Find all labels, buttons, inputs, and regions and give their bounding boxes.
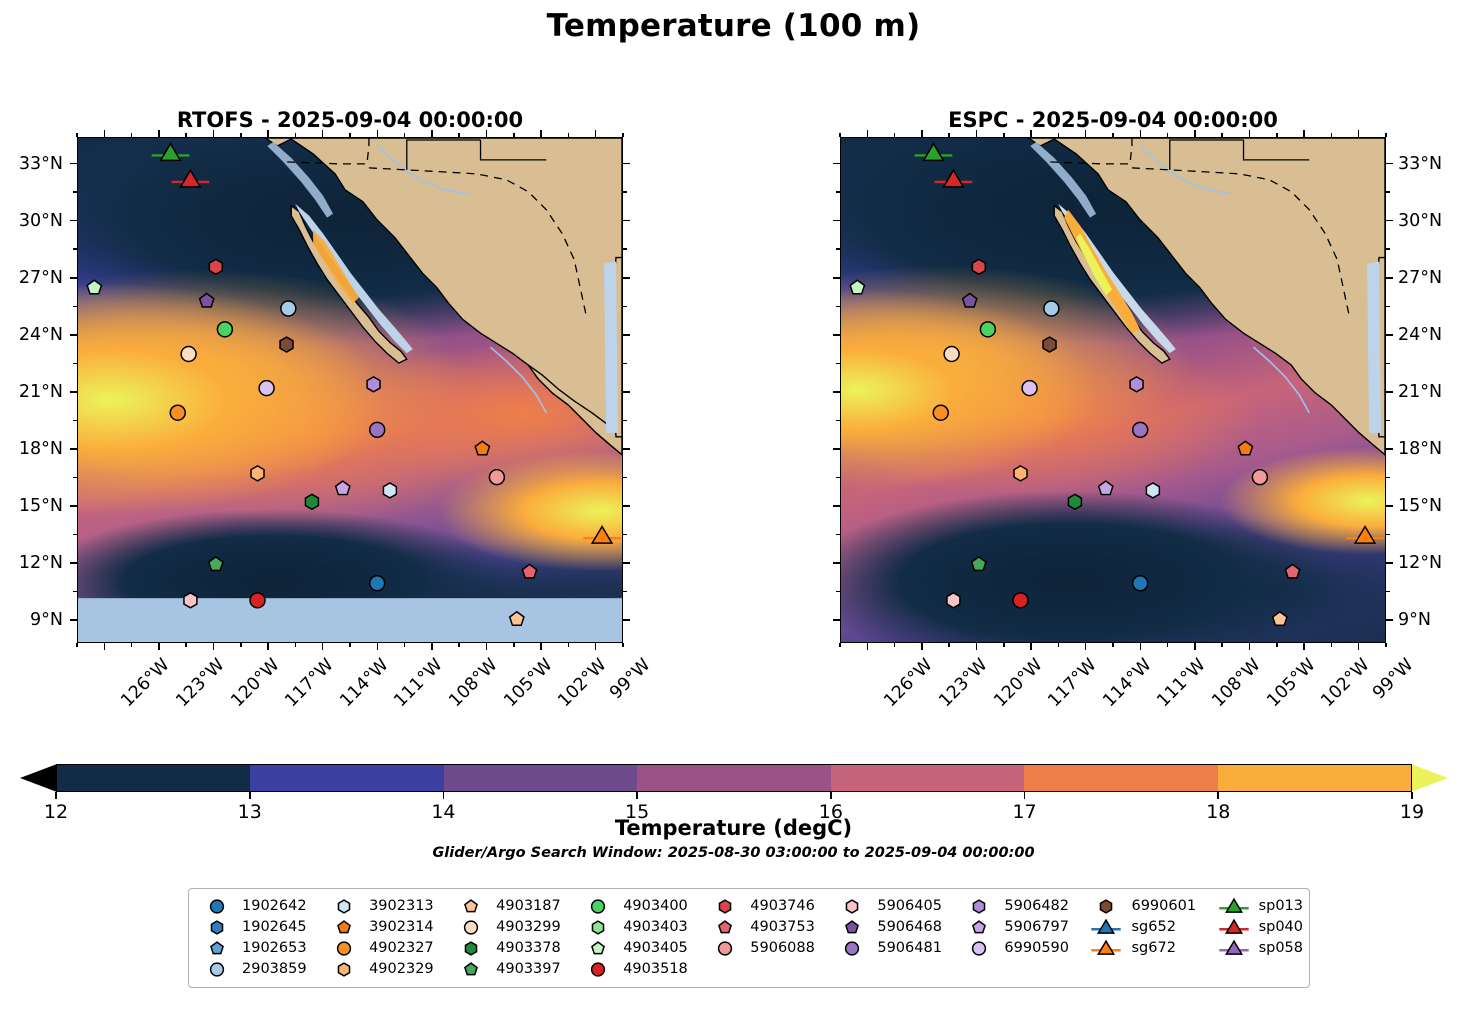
- xtick-label-espc-6: 108°W: [1208, 655, 1264, 711]
- platform-marker-4903746[interactable]: [209, 259, 222, 274]
- legend-item-5906088[interactable]: 5906088: [703, 938, 830, 959]
- ytick-right-rtofs-4: [623, 391, 630, 393]
- legend-label-3902314: 3902314: [369, 918, 434, 937]
- legend-glyph-sg672[interactable]: [1092, 941, 1121, 954]
- xtick-minor: [131, 133, 133, 137]
- legend-label-4903746: 4903746: [750, 897, 815, 916]
- ytick-rtofs-0: [70, 163, 77, 165]
- legend-glyph-5906482[interactable]: [974, 900, 985, 913]
- legend-marker-1902653: [201, 939, 233, 958]
- platform-marker-sp040[interactable]: [172, 170, 210, 187]
- xtick-rtofs-6: [431, 643, 433, 650]
- legend-label-5906405: 5906405: [877, 897, 942, 916]
- ytick-minor: [623, 191, 627, 193]
- xtick-minor: [240, 643, 242, 647]
- legend-glyph-5906468[interactable]: [846, 921, 858, 933]
- ytick-minor: [836, 248, 840, 250]
- xtick-label-espc-4: 114°W: [1099, 655, 1155, 711]
- platform-marker-4903400[interactable]: [217, 322, 232, 337]
- ytick-minor: [73, 534, 77, 536]
- platform-marker-2903859[interactable]: [1044, 301, 1059, 316]
- legend-label-1902645: 1902645: [242, 918, 307, 937]
- xtick-top-rtofs-8: [540, 130, 542, 137]
- legend-marker-4903187: [455, 897, 487, 916]
- xtick-top-espc-0: [867, 130, 869, 137]
- legend-item-4903518[interactable]: 4903518: [576, 959, 703, 980]
- legend-label-4903397: 4903397: [496, 960, 561, 979]
- map-panel-espc: ESPC - 2025-09-04 00:00:00: [840, 137, 1386, 643]
- legend-label-sp013: sp013: [1259, 897, 1303, 916]
- platform-marker-5906481[interactable]: [1133, 422, 1148, 437]
- legend-glyph-4903405[interactable]: [592, 942, 604, 954]
- legend-label-1902642: 1902642: [242, 897, 307, 916]
- xtick-minor: [894, 643, 896, 647]
- platform-marker-4903405[interactable]: [850, 280, 864, 294]
- platform-marker-4903746[interactable]: [972, 259, 985, 274]
- xtick-minor: [1221, 133, 1223, 137]
- legend-glyph-1902642[interactable]: [211, 900, 224, 913]
- ytick-right-rtofs-3: [623, 334, 630, 336]
- xtick-minor: [1003, 643, 1005, 647]
- xtick-label-espc-3: 117°W: [1045, 655, 1101, 711]
- xtick-minor: [568, 643, 570, 647]
- legend-marker-5906482: [963, 897, 995, 916]
- xtick-label-espc-1: 123°W: [935, 655, 991, 711]
- platform-marker-4903378[interactable]: [1068, 494, 1081, 509]
- xtick-espc-2: [976, 643, 978, 650]
- xtick-minor: [622, 643, 624, 647]
- xtick-minor: [948, 133, 950, 137]
- legend-item-5906468[interactable]: 5906468: [830, 917, 957, 938]
- xtick-label-rtofs-3: 117°W: [282, 655, 338, 711]
- xtick-top-espc-9: [1358, 130, 1360, 137]
- legend-marker-6990601: [1090, 897, 1122, 916]
- legend-marker-6990590: [963, 939, 995, 958]
- xtick-minor: [948, 643, 950, 647]
- legend-glyph-2903859[interactable]: [211, 963, 224, 976]
- platform-marker-5906405[interactable]: [947, 593, 960, 608]
- legend-glyph-4903518[interactable]: [592, 963, 605, 976]
- legend-marker-4903397: [455, 960, 487, 979]
- platform-marker-4903518[interactable]: [1013, 593, 1028, 608]
- legend-marker-4902327: [328, 939, 360, 958]
- platform-marker-4903397[interactable]: [209, 557, 223, 571]
- platform-marker-3902313[interactable]: [1146, 483, 1159, 498]
- platform-marker-5906482[interactable]: [367, 377, 380, 392]
- legend-item-3902314[interactable]: 3902314: [322, 917, 449, 938]
- legend-label-sp058: sp058: [1259, 939, 1303, 958]
- xtick-minor: [1221, 643, 1223, 647]
- xtick-label-rtofs-9: 99°W: [606, 655, 654, 703]
- ytick-espc-5: [833, 448, 840, 450]
- colorbar-tick-6: [1217, 792, 1219, 799]
- platform-marker-5906088[interactable]: [489, 470, 504, 485]
- platform-marker-sp013[interactable]: [915, 144, 953, 161]
- ytick-label-left-1: 30°N: [0, 211, 63, 231]
- platform-marker-4903518[interactable]: [250, 593, 265, 608]
- ytick-label-right-3: 24°N: [1398, 325, 1467, 345]
- legend-marker-4903405: [582, 939, 614, 958]
- ytick-label-right-1: 30°N: [1398, 211, 1467, 231]
- xtick-minor: [1276, 133, 1278, 137]
- xtick-minor: [1276, 643, 1278, 647]
- legend-marker-sg672: [1090, 939, 1122, 958]
- legend-glyph-4903397[interactable]: [465, 963, 477, 975]
- ytick-minor: [836, 306, 840, 308]
- colorbar-extend-over: [1411, 764, 1448, 792]
- legend-glyph-6990601[interactable]: [1101, 900, 1112, 913]
- platform-marker-4903378[interactable]: [305, 494, 318, 509]
- platform-marker-4903187[interactable]: [510, 612, 524, 626]
- xtick-minor: [1058, 133, 1060, 137]
- search-window-caption: Glider/Argo Search Window: 2025-08-30 03…: [0, 845, 1467, 861]
- xtick-minor: [185, 643, 187, 647]
- xtick-minor: [349, 133, 351, 137]
- ytick-right-rtofs-0: [623, 163, 630, 165]
- xtick-minor: [1003, 133, 1005, 137]
- xtick-label-espc-7: 105°W: [1263, 655, 1319, 711]
- legend-grid: 1902642190264519026532903859390231339023…: [195, 896, 1303, 980]
- xtick-minor: [568, 133, 570, 137]
- legend-marker-sp040: [1218, 918, 1250, 937]
- xtick-label-espc-0: 126°W: [881, 655, 937, 711]
- legend-glyph-4903378[interactable]: [466, 942, 477, 955]
- xtick-minor: [404, 643, 406, 647]
- ytick-right-espc-3: [1386, 334, 1393, 336]
- platform-marker-2903859[interactable]: [281, 301, 296, 316]
- legend-glyph-4903753[interactable]: [719, 921, 731, 933]
- platform-marker-4902329[interactable]: [251, 466, 264, 481]
- xtick-top-rtofs-5: [377, 130, 379, 137]
- legend-glyph-4903299[interactable]: [465, 921, 478, 934]
- platform-markers-rtofs[interactable]: [78, 138, 622, 642]
- platform-legend[interactable]: 1902642190264519026532903859390231339023…: [188, 888, 1310, 988]
- legend-item-sp058[interactable]: sp058: [1212, 938, 1303, 959]
- xtick-top-rtofs-7: [486, 130, 488, 137]
- legend-marker-5906797: [963, 918, 995, 937]
- xtick-top-espc-2: [976, 130, 978, 137]
- xtick-top-espc-4: [1085, 130, 1087, 137]
- platform-marker-4902327[interactable]: [933, 405, 948, 420]
- platform-marker-4903753[interactable]: [522, 564, 536, 578]
- legend-item-2903859[interactable]: 2903859: [195, 959, 322, 980]
- xtick-top-rtofs-1: [158, 130, 160, 137]
- legend-item-4903753[interactable]: 4903753: [703, 917, 830, 938]
- xtick-rtofs-0: [104, 643, 106, 650]
- ytick-minor: [836, 534, 840, 536]
- legend-glyph-4903187[interactable]: [465, 900, 477, 912]
- platform-marker-6990590[interactable]: [259, 381, 274, 396]
- ytick-minor: [73, 248, 77, 250]
- ytick-label-right-5: 18°N: [1398, 439, 1467, 459]
- legend-glyph-1902653[interactable]: [211, 942, 223, 954]
- xtick-minor: [76, 643, 78, 647]
- ytick-minor: [836, 363, 840, 365]
- legend-label-5906088: 5906088: [750, 939, 815, 958]
- xtick-minor: [894, 133, 896, 137]
- ytick-minor: [836, 477, 840, 479]
- ytick-right-rtofs-5: [623, 448, 630, 450]
- map-panel-rtofs: RTOFS - 2025-09-04 00:00:00: [77, 137, 623, 643]
- platform-marker-1902642[interactable]: [370, 576, 385, 591]
- legend-label-4903405: 4903405: [623, 939, 688, 958]
- ytick-espc-0: [833, 163, 840, 165]
- legend-label-4903403: 4903403: [623, 918, 688, 937]
- legend-label-2903859: 2903859: [242, 960, 307, 979]
- legend-item-5906405[interactable]: 5906405: [830, 896, 957, 917]
- platform-marker-5906481[interactable]: [370, 422, 385, 437]
- ytick-right-rtofs-8: [623, 619, 630, 621]
- platform-markers-espc[interactable]: [841, 138, 1385, 642]
- legend-item-6990601[interactable]: 6990601: [1084, 896, 1211, 917]
- xtick-minor: [458, 643, 460, 647]
- legend-label-6990590: 6990590: [1004, 939, 1069, 958]
- xtick-label-espc-2: 120°W: [990, 655, 1046, 711]
- ytick-right-rtofs-2: [623, 277, 630, 279]
- legend-item-4903299[interactable]: 4903299: [449, 917, 576, 938]
- legend-item-sg672[interactable]: sg672: [1084, 938, 1211, 959]
- legend-glyph-sp040[interactable]: [1219, 920, 1248, 933]
- colorbar-tick-3: [636, 792, 638, 799]
- xtick-label-rtofs-8: 102°W: [555, 655, 611, 711]
- xtick-minor: [295, 133, 297, 137]
- xtick-label-rtofs-2: 120°W: [227, 655, 283, 711]
- legend-glyph-5906405[interactable]: [847, 900, 858, 913]
- platform-marker-3902314[interactable]: [1238, 441, 1252, 455]
- ytick-rtofs-1: [70, 220, 77, 222]
- xtick-top-rtofs-9: [595, 130, 597, 137]
- xtick-minor: [1167, 643, 1169, 647]
- xtick-top-espc-3: [1030, 130, 1032, 137]
- legend-label-sp040: sp040: [1259, 918, 1303, 937]
- ytick-right-espc-4: [1386, 391, 1393, 393]
- xtick-label-rtofs-5: 111°W: [391, 655, 447, 711]
- xtick-top-espc-7: [1249, 130, 1251, 137]
- legend-item-4902329[interactable]: 4902329: [322, 959, 449, 980]
- platform-marker-5906482[interactable]: [1130, 377, 1143, 392]
- ytick-rtofs-6: [70, 505, 77, 507]
- xtick-espc-3: [1030, 643, 1032, 650]
- platform-marker-5906797[interactable]: [336, 481, 350, 495]
- platform-marker-6990590[interactable]: [1022, 381, 1037, 396]
- platform-marker-1902642[interactable]: [1133, 576, 1148, 591]
- ytick-label-right-7: 12°N: [1398, 553, 1467, 573]
- ytick-right-espc-8: [1386, 619, 1393, 621]
- xtick-minor: [1331, 643, 1333, 647]
- xtick-minor: [513, 643, 515, 647]
- legend-item-4903405[interactable]: 4903405: [576, 938, 703, 959]
- legend-item-4903378[interactable]: 4903378: [449, 938, 576, 959]
- xtick-rtofs-7: [486, 643, 488, 650]
- platform-marker-4903405[interactable]: [87, 280, 101, 294]
- platform-marker-4903753[interactable]: [1285, 564, 1299, 578]
- legend-label-4903187: 4903187: [496, 897, 561, 916]
- legend-marker-4903753: [709, 918, 741, 937]
- xtick-minor: [1385, 643, 1387, 647]
- ytick-label-left-5: 18°N: [0, 439, 63, 459]
- legend-item-1902653[interactable]: 1902653: [195, 938, 322, 959]
- legend-item-3902313[interactable]: 3902313: [322, 896, 449, 917]
- legend-item-6990590[interactable]: 6990590: [957, 938, 1084, 959]
- legend-glyph-sp058[interactable]: [1219, 941, 1248, 954]
- xtick-espc-8: [1303, 643, 1305, 650]
- platform-marker-4903299[interactable]: [944, 347, 959, 362]
- platform-marker-4902329[interactable]: [1014, 466, 1027, 481]
- xtick-label-rtofs-4: 114°W: [336, 655, 392, 711]
- ytick-minor: [1386, 591, 1390, 593]
- ytick-right-espc-7: [1386, 562, 1393, 564]
- legend-item-4903400[interactable]: 4903400: [576, 896, 703, 917]
- xtick-label-espc-9: 99°W: [1369, 655, 1417, 703]
- legend-item-1902645[interactable]: 1902645: [195, 917, 322, 938]
- xtick-espc-0: [867, 643, 869, 650]
- ytick-minor: [836, 420, 840, 422]
- legend-label-4903518: 4903518: [623, 960, 688, 979]
- legend-glyph-4903746[interactable]: [720, 900, 731, 913]
- colorbar-tick-0: [55, 792, 57, 799]
- ytick-rtofs-5: [70, 448, 77, 450]
- xtick-minor: [839, 133, 841, 137]
- xtick-minor: [240, 133, 242, 137]
- ytick-label-left-6: 15°N: [0, 496, 63, 516]
- ytick-espc-4: [833, 391, 840, 393]
- platform-marker-5906797[interactable]: [1099, 481, 1113, 495]
- legend-item-5906482[interactable]: 5906482: [957, 896, 1084, 917]
- platform-marker-5906405[interactable]: [184, 593, 197, 608]
- legend-glyph-4902327[interactable]: [338, 942, 351, 955]
- legend-marker-5906088: [709, 939, 741, 958]
- legend-label-6990601: 6990601: [1131, 897, 1196, 916]
- figure-title: Temperature (100 m): [0, 8, 1467, 44]
- ytick-label-left-4: 21°N: [0, 382, 63, 402]
- ytick-minor: [73, 591, 77, 593]
- legend-marker-sp013: [1218, 897, 1250, 916]
- legend-item-4903397[interactable]: 4903397: [449, 959, 576, 980]
- xtick-espc-6: [1194, 643, 1196, 650]
- ytick-label-right-0: 33°N: [1398, 154, 1467, 174]
- ytick-minor: [623, 363, 627, 365]
- ytick-minor: [623, 306, 627, 308]
- platform-marker-4903187[interactable]: [1273, 612, 1287, 626]
- ytick-minor: [1386, 306, 1390, 308]
- map-frame-rtofs[interactable]: [77, 137, 623, 643]
- legend-glyph-1902645[interactable]: [211, 921, 222, 934]
- colorbar-segment-1: [250, 765, 443, 791]
- ytick-label-left-8: 9°N: [0, 610, 63, 630]
- xtick-rtofs-8: [540, 643, 542, 650]
- platform-marker-sg672[interactable]: [583, 526, 621, 543]
- colorbar[interactable]: 1213141516171819: [20, 764, 1448, 792]
- legend-glyph-sp013[interactable]: [1219, 899, 1248, 912]
- legend-glyph-5906797[interactable]: [973, 921, 985, 933]
- ytick-minor: [623, 477, 627, 479]
- platform-marker-5906468[interactable]: [963, 293, 977, 307]
- platform-marker-sg672[interactable]: [1346, 526, 1384, 543]
- xtick-espc-9: [1358, 643, 1360, 650]
- legend-item-5906481[interactable]: 5906481: [830, 938, 957, 959]
- ytick-minor: [73, 477, 77, 479]
- legend-glyph-5906481[interactable]: [846, 942, 859, 955]
- legend-label-5906797: 5906797: [1004, 918, 1069, 937]
- colorbar-segment-5: [1024, 765, 1217, 791]
- xtick-rtofs-4: [322, 643, 324, 650]
- legend-marker-4903400: [582, 897, 614, 916]
- platform-marker-sp013[interactable]: [152, 144, 190, 161]
- colorbar-segment-0: [57, 765, 250, 791]
- legend-label-4902329: 4902329: [369, 960, 434, 979]
- ytick-minor: [1386, 477, 1390, 479]
- ytick-espc-8: [833, 619, 840, 621]
- legend-glyph-4903400[interactable]: [592, 900, 605, 913]
- legend-glyph-3902314[interactable]: [338, 921, 350, 933]
- colorbar-segments: [56, 764, 1412, 792]
- legend-glyph-4902329[interactable]: [339, 963, 350, 976]
- panel-title-espc: ESPC - 2025-09-04 00:00:00: [840, 108, 1386, 132]
- xtick-espc-7: [1249, 643, 1251, 650]
- platform-marker-6990601[interactable]: [1043, 337, 1056, 352]
- platform-marker-5906468[interactable]: [200, 293, 214, 307]
- legend-glyph-sg652[interactable]: [1092, 920, 1121, 933]
- legend-item-1902642[interactable]: 1902642: [195, 896, 322, 917]
- platform-marker-sp040[interactable]: [935, 170, 973, 187]
- platform-marker-4903400[interactable]: [980, 322, 995, 337]
- ytick-minor: [623, 534, 627, 536]
- xtick-top-espc-5: [1140, 130, 1142, 137]
- legend-item-sp040[interactable]: sp040: [1212, 917, 1303, 938]
- platform-marker-3902313[interactable]: [383, 483, 396, 498]
- legend-item-sg652[interactable]: sg652: [1084, 917, 1211, 938]
- legend-glyph-5906088[interactable]: [719, 942, 732, 955]
- map-frame-espc[interactable]: [840, 137, 1386, 643]
- ytick-minor: [836, 191, 840, 193]
- colorbar-segment-3: [637, 765, 830, 791]
- legend-marker-sg652: [1090, 918, 1122, 937]
- platform-marker-3902314[interactable]: [475, 441, 489, 455]
- platform-marker-4903299[interactable]: [181, 347, 196, 362]
- legend-marker-5906481: [836, 939, 868, 958]
- legend-glyph-6990590[interactable]: [973, 942, 986, 955]
- ytick-espc-2: [833, 277, 840, 279]
- ytick-minor: [623, 591, 627, 593]
- ytick-minor: [1386, 248, 1390, 250]
- legend-label-3902313: 3902313: [369, 897, 434, 916]
- xtick-label-rtofs-0: 126°W: [118, 655, 174, 711]
- ytick-right-espc-0: [1386, 163, 1393, 165]
- ytick-label-right-6: 15°N: [1398, 496, 1467, 516]
- figure-canvas: Temperature (100 m) RTOFS - 2025-09-04 0…: [0, 0, 1467, 1014]
- xtick-top-espc-1: [921, 130, 923, 137]
- ytick-rtofs-7: [70, 562, 77, 564]
- ytick-minor: [73, 420, 77, 422]
- platform-marker-5906088[interactable]: [1252, 470, 1267, 485]
- legend-item-5906797[interactable]: 5906797: [957, 917, 1084, 938]
- legend-item-4902327[interactable]: 4902327: [322, 938, 449, 959]
- legend-item-4903187[interactable]: 4903187: [449, 896, 576, 917]
- xtick-minor: [76, 133, 78, 137]
- ytick-right-rtofs-6: [623, 505, 630, 507]
- legend-glyph-3902313[interactable]: [339, 900, 350, 913]
- xtick-label-espc-8: 102°W: [1318, 655, 1374, 711]
- legend-marker-3902314: [328, 918, 360, 937]
- platform-marker-4902327[interactable]: [170, 405, 185, 420]
- platform-marker-6990601[interactable]: [280, 337, 293, 352]
- xtick-minor: [1167, 133, 1169, 137]
- legend-item-sp013[interactable]: sp013: [1212, 896, 1303, 917]
- legend-item-4903746[interactable]: 4903746: [703, 896, 830, 917]
- legend-item-4903403[interactable]: 4903403: [576, 917, 703, 938]
- legend-glyph-4903403[interactable]: [593, 921, 604, 934]
- platform-marker-4903397[interactable]: [972, 557, 986, 571]
